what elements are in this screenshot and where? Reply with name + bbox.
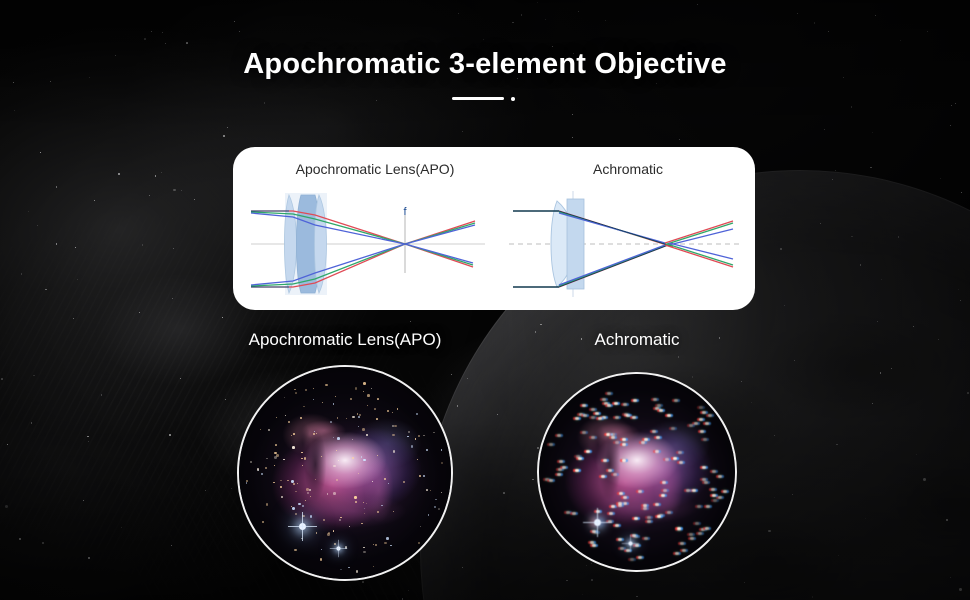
diagram-heading-apo: Apochromatic Lens(APO) (255, 161, 495, 177)
apo-lens-diagram: f (245, 185, 491, 303)
nebula-vignette-achromatic (539, 374, 735, 570)
title-divider (0, 94, 970, 104)
promo-banner: Apochromatic 3-element Objective Apochro… (0, 0, 970, 600)
nebula-inner-apo (239, 367, 451, 579)
ray-blue-after-upper (405, 225, 475, 244)
ray-blue-lower (251, 244, 405, 285)
nebula-image-achromatic (537, 372, 737, 572)
ray-blue-upper (251, 213, 405, 244)
ray-blue-after-lower (405, 244, 473, 263)
page-title: Apochromatic 3-element Objective (0, 48, 970, 81)
nebula-inner-achromatic (539, 374, 735, 570)
nebula-vignette-apo (239, 367, 451, 579)
comparison-label-achromatic: Achromatic (517, 330, 757, 350)
ray-green-lower (251, 244, 405, 286)
comparison-labels: Apochromatic Lens(APO) Achromatic (0, 330, 970, 356)
achromatic-lens-diagram (505, 185, 743, 303)
comparison-label-apo: Apochromatic Lens(APO) (225, 330, 465, 350)
optics-diagram-card: Apochromatic Lens(APO) Achromatic (233, 147, 755, 310)
lens-housing-band (285, 193, 327, 295)
title-divider-bar (452, 97, 504, 100)
diagram-headings: Apochromatic Lens(APO) Achromatic (233, 161, 755, 183)
ray-green-after-upper (667, 223, 733, 244)
ray-red-lower (251, 244, 405, 287)
diagram-heading-achromatic: Achromatic (508, 161, 748, 177)
achromat-element-2 (567, 199, 584, 289)
title-divider-dot (511, 97, 515, 101)
ray-green-after-lower (667, 244, 733, 265)
nebula-image-apo (237, 365, 453, 581)
focal-point-label: f (403, 206, 407, 218)
